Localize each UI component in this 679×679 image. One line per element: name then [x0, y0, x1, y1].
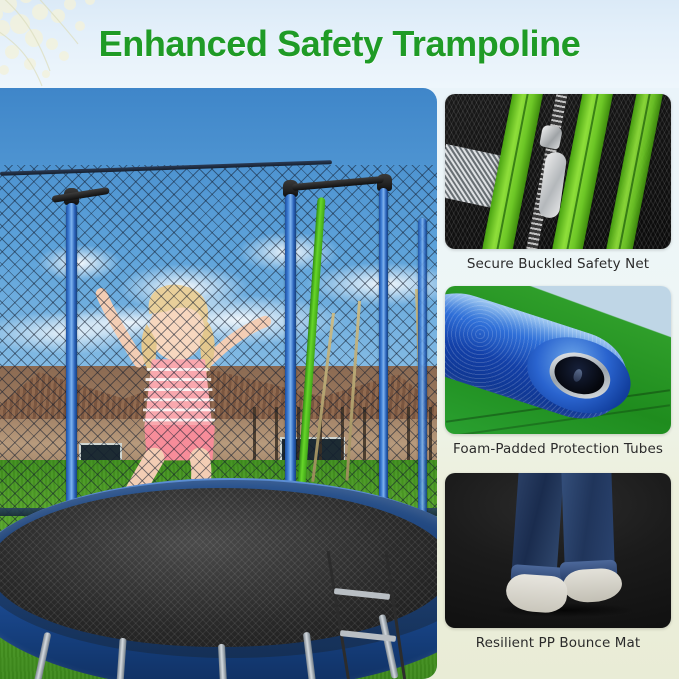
hero-image	[0, 88, 437, 679]
feature-card-protection-tubes[interactable]: Foam-Padded Protection Tubes	[445, 286, 671, 457]
page-title: Enhanced Safety Trampoline	[0, 0, 679, 88]
feature-panel-list: Secure Buckled Safety Net Foam-Padded Pr…	[437, 88, 679, 679]
trampoline-ladder	[308, 551, 428, 679]
feature-caption: Foam-Padded Protection Tubes	[445, 441, 671, 457]
enclosure-pole	[379, 188, 388, 531]
feature-card-safety-net[interactable]: Secure Buckled Safety Net	[445, 94, 671, 272]
feature-card-bounce-mat[interactable]: Resilient PP Bounce Mat	[445, 473, 671, 651]
product-infographic: Enhanced Safety Trampoline	[0, 0, 679, 679]
blue-foam-tube-photo	[445, 286, 671, 434]
feet-on-black-mat-photo	[445, 473, 671, 628]
feature-caption: Secure Buckled Safety Net	[445, 256, 671, 272]
zipper-slider	[539, 124, 563, 149]
enclosure-pole	[418, 218, 427, 525]
feature-caption: Resilient PP Bounce Mat	[445, 635, 671, 651]
header-banner: Enhanced Safety Trampoline	[0, 0, 679, 88]
zipper-closeup-photo	[445, 94, 671, 249]
trampoline-leg	[217, 643, 226, 679]
